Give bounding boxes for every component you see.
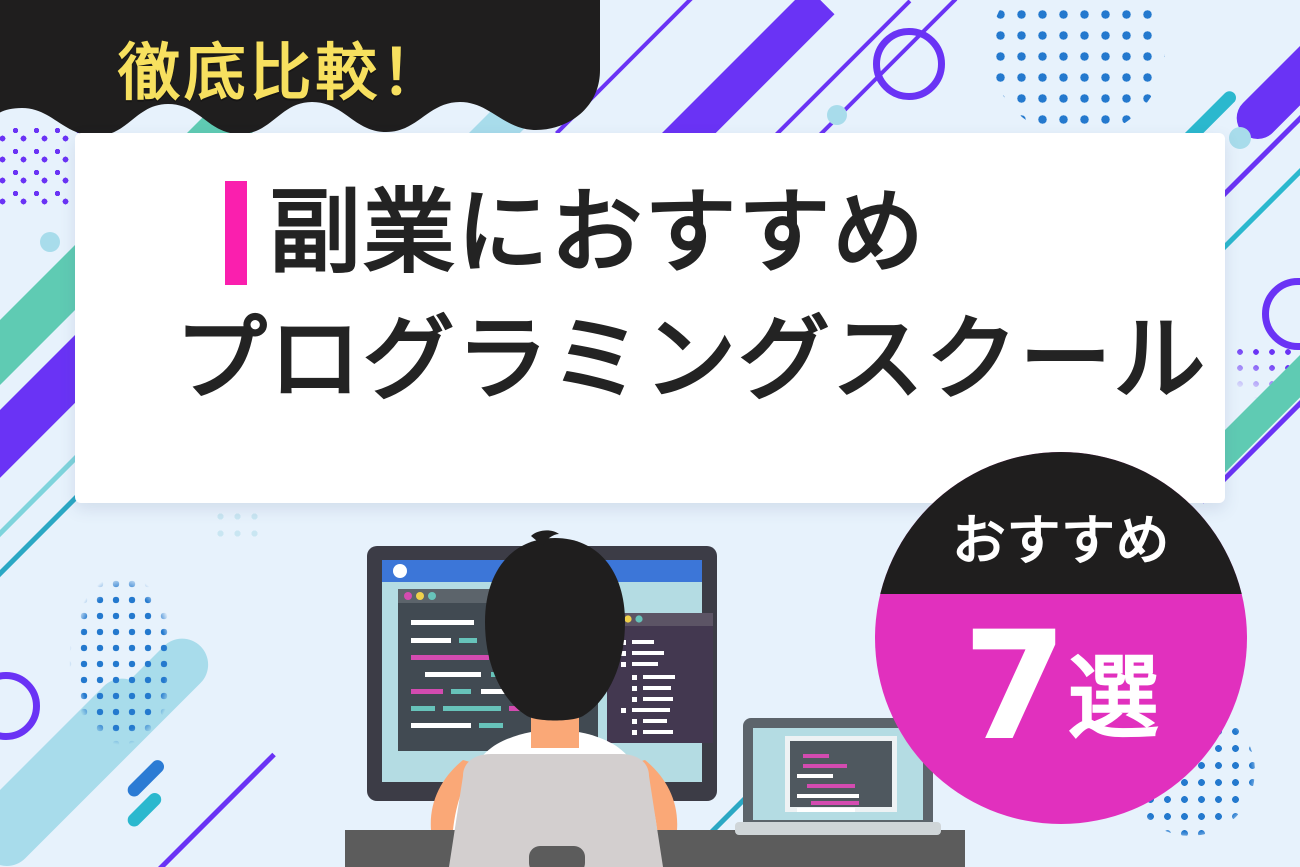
- purple-ring-top: [873, 28, 945, 100]
- page-title-line-2: プログラミングスクール: [175, 308, 1207, 412]
- badge-top-label: おすすめ: [875, 496, 1247, 575]
- hero-banner: 徹底比較！ 副業におすすめ プログラミングスクール: [0, 0, 1300, 867]
- blue-dash-small: [125, 757, 167, 799]
- recommendation-badge: おすすめ 7選: [875, 452, 1247, 824]
- blue-halftone-circle-topright: [990, 0, 1165, 137]
- title-line-2-wrapper: プログラミングスクール: [175, 308, 1207, 412]
- title-line-1-wrapper: 副業におすすめ: [225, 181, 926, 285]
- page-title-line-1: 副業におすすめ: [269, 181, 926, 285]
- title-accent-bar: [225, 181, 247, 285]
- pale-blue-dash-group: [212, 508, 262, 544]
- purple-thin-line-bottom: [145, 753, 276, 867]
- purple-ring-bottomleft: [0, 672, 40, 740]
- comparison-ribbon-label: 徹底比較！: [118, 22, 447, 112]
- light-blue-dot-left: [40, 232, 60, 252]
- title-card: 副業におすすめ プログラミングスクール: [75, 133, 1225, 503]
- badge-count-number: 7: [963, 600, 1067, 774]
- badge-count-wrapper: 7選: [875, 612, 1247, 762]
- light-blue-dot-top: [827, 105, 847, 125]
- programmer-illustration: [345, 530, 965, 867]
- blue-halftone-circle-bottomleft: [60, 560, 185, 760]
- purple-ring-right: [1262, 278, 1300, 350]
- badge-count-suffix: 選: [1067, 645, 1159, 752]
- light-blue-dot-right: [1229, 127, 1251, 149]
